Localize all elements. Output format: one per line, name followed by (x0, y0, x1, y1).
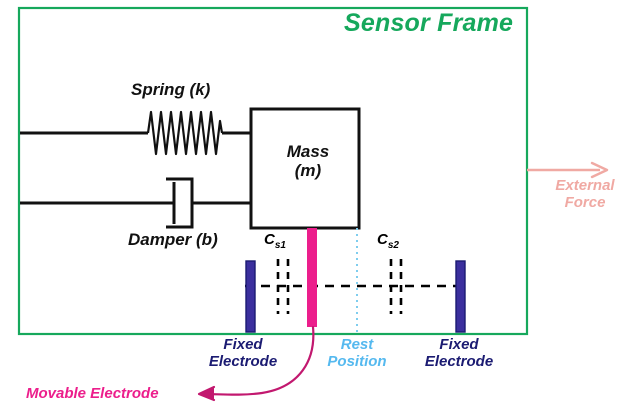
external-force-label-line1: External (551, 178, 619, 195)
fixed-electrode-right-label-line2: Electrode (404, 354, 514, 371)
spring-label: Spring (k) (131, 80, 210, 99)
fixed-electrode-left-label-line1: Fixed (188, 337, 298, 354)
spring-coil (148, 112, 222, 154)
mass-label-line1: Mass (273, 142, 343, 161)
movable-electrode-pointer-head (199, 387, 214, 400)
cap-cs2-label: Cs2 (377, 232, 399, 251)
cap-cs1-subscript: s1 (275, 240, 286, 251)
fixed-electrode-right (456, 261, 465, 332)
external-force-label: External Force (551, 178, 619, 212)
mass-label: Mass (m) (273, 142, 343, 180)
rest-position-label-line2: Position (302, 354, 412, 371)
movable-electrode-label: Movable Electrode (26, 386, 159, 403)
cap-cs2-subscript: s2 (388, 240, 399, 251)
fixed-electrode-left-label-line2: Electrode (188, 354, 298, 371)
rest-position-label-line1: Rest (302, 337, 412, 354)
rest-position-label: Rest Position (302, 337, 412, 371)
cap-cs2-symbol: C (377, 231, 388, 248)
fixed-electrode-right-label-line1: Fixed (404, 337, 514, 354)
fixed-electrode-left-label: Fixed Electrode (188, 337, 298, 371)
fixed-electrode-left (246, 261, 255, 332)
movable-electrode-bar (307, 228, 317, 327)
damper-label: Damper (b) (128, 230, 218, 249)
external-force-label-line2: Force (551, 195, 619, 212)
fixed-electrode-right-label: Fixed Electrode (404, 337, 514, 371)
cap-cs1-symbol: C (264, 231, 275, 248)
cap-cs1-label: Cs1 (264, 232, 286, 251)
mass-label-line2: (m) (273, 161, 343, 180)
page-title: Sensor Frame (344, 9, 513, 37)
diagram-canvas: Sensor Frame Spring (k) Damper (b) Mass … (0, 0, 622, 419)
